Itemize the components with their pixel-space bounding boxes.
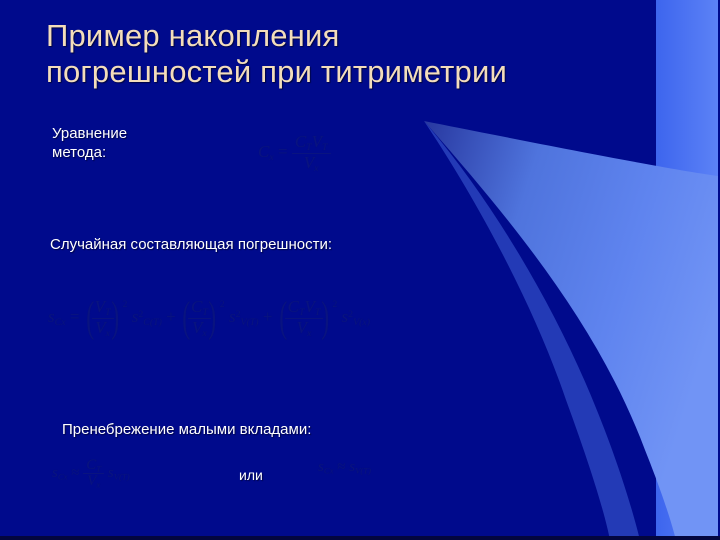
eq-small-left-relation: ≈ bbox=[71, 465, 79, 481]
label-or: или bbox=[239, 466, 263, 485]
eq-random-term1-fraction: VT Vx bbox=[92, 298, 114, 338]
eq-random-term3-paren: CTVT Vx bbox=[277, 298, 332, 338]
eq-small-left-lhs: sCx bbox=[52, 465, 68, 481]
eq-random-term1-den: Vx bbox=[92, 318, 114, 339]
eq-random-term3-power: 2 bbox=[332, 299, 337, 310]
eq-random-term2-fraction: CT Vx bbox=[188, 298, 211, 338]
eq-random-term3-den: Vx bbox=[285, 318, 324, 339]
equation-simplified-left: sCx ≈ CT Vx sV(T) bbox=[52, 458, 130, 489]
eq-random-term3-group: CTVT Vx 2 bbox=[277, 298, 338, 338]
eq-random-term2-paren: CT Vx bbox=[180, 298, 219, 338]
eq-random-term2-group: CT Vx 2 bbox=[180, 298, 225, 338]
slide-title: Пример накопления погрешностей при титри… bbox=[46, 18, 686, 90]
eq-random-term1-num: VT bbox=[92, 298, 114, 318]
eq-small-left-fraction: CT Vx bbox=[83, 458, 104, 489]
label-method-equation: Уравнение метода: bbox=[52, 124, 127, 162]
eq-method-numerator: CTVT bbox=[292, 133, 331, 153]
eq-random-op1: + bbox=[166, 307, 176, 326]
eq-method-relation: = bbox=[278, 142, 288, 161]
eq-random-term1-group: VT Vx 2 bbox=[84, 298, 128, 338]
eq-random-term3-num: CTVT bbox=[285, 298, 324, 318]
equation-random-component: sCx = VT Vx 2 s2C(T) + CT Vx 2 s2V(T) + bbox=[48, 298, 370, 338]
eq-random-term3-fraction: CTVT Vx bbox=[285, 298, 324, 338]
eq-random-term2-power: 2 bbox=[220, 299, 225, 310]
label-random-component: Случайная составляющая погрешности: bbox=[50, 235, 332, 254]
equation-method: Cx = CTVT Vx bbox=[258, 133, 331, 173]
eq-random-term2-num: CT bbox=[188, 298, 211, 318]
eq-random-term1-paren: VT Vx bbox=[84, 298, 122, 338]
eq-small-right-rhs: sV(T) bbox=[349, 459, 371, 475]
swoosh-edge-highlight bbox=[424, 121, 640, 540]
eq-random-op2: + bbox=[263, 307, 273, 326]
eq-method-fraction: CTVT Vx bbox=[292, 133, 331, 173]
eq-random-term1-factor: s2C(T) bbox=[132, 307, 162, 326]
bottom-border bbox=[0, 536, 720, 540]
eq-random-term3-factor: s2V(x) bbox=[342, 307, 371, 326]
label-neglect-small-contributions: Пренебрежение малыми вкладами: bbox=[62, 420, 311, 439]
eq-small-left-den: Vx bbox=[83, 473, 104, 489]
eq-small-right-lhs: sCx bbox=[318, 459, 334, 475]
eq-random-term1-power: 2 bbox=[123, 299, 128, 310]
presentation-slide: Пример накопления погрешностей при титри… bbox=[0, 0, 720, 540]
eq-random-term2-den: Vx bbox=[188, 318, 211, 339]
eq-random-lhs: sCx bbox=[48, 307, 66, 326]
title-line-1: Пример накопления bbox=[46, 18, 686, 54]
eq-small-left-num: CT bbox=[83, 458, 104, 473]
eq-random-relation: = bbox=[70, 307, 80, 326]
eq-small-right-relation: ≈ bbox=[337, 459, 345, 475]
swoosh-wedge bbox=[424, 121, 718, 540]
eq-method-denominator: Vx bbox=[292, 153, 331, 174]
eq-small-left-factor: sV(T) bbox=[108, 465, 130, 481]
eq-method-lhs: Cx bbox=[258, 142, 274, 161]
eq-random-term2-factor: s2V(T) bbox=[229, 307, 259, 326]
equation-simplified-right: sCx ≈ sV(T) bbox=[318, 460, 371, 475]
title-line-2: погрешностей при титриметрии bbox=[46, 54, 686, 90]
